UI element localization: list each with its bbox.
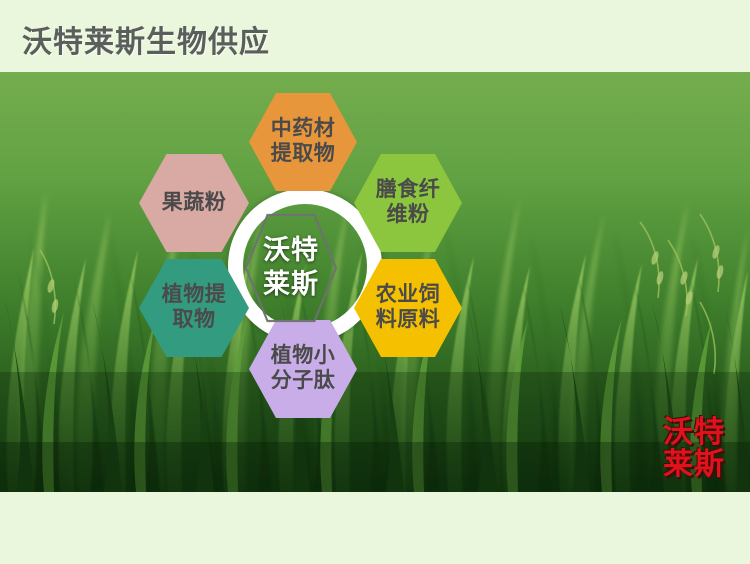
hex-node-herbal-extract[interactable]: 中药材提取物 bbox=[249, 93, 357, 191]
hex-label-line2: 维粉 bbox=[387, 203, 430, 226]
center-label-line2: 莱斯 bbox=[263, 269, 319, 299]
hex-label-dietary-fiber-powder: 膳食纤维粉 bbox=[354, 178, 462, 228]
banner-photo: 中药材提取物 膳食纤维粉 农业饲料原料 植物小分子肽 植物提取物 果蔬粉 bbox=[0, 72, 750, 492]
header-bar: 沃特莱斯生物供应 bbox=[0, 0, 750, 72]
page-root: 沃特莱斯生物供应 bbox=[0, 0, 750, 564]
hex-label-line1: 植物小 bbox=[271, 344, 336, 367]
hex-label-line1: 中药材 bbox=[271, 117, 336, 140]
hex-label-line1: 农业饲 bbox=[376, 283, 441, 306]
footer-bar bbox=[0, 492, 750, 564]
center-brand-label: 沃特莱斯 bbox=[263, 234, 319, 302]
hex-label-line2: 料原料 bbox=[376, 308, 441, 331]
hex-node-plant-peptide[interactable]: 植物小分子肽 bbox=[249, 320, 357, 418]
hex-label-line2: 分子肽 bbox=[271, 369, 336, 392]
brand-watermark: 沃特莱斯 bbox=[663, 417, 725, 482]
hex-label-line1: 植物提 bbox=[162, 283, 227, 306]
hex-label-herbal-extract: 中药材提取物 bbox=[249, 117, 357, 167]
hex-label-line2: 取物 bbox=[173, 308, 216, 331]
watermark-line1: 沃特 bbox=[663, 416, 725, 449]
watermark-line2: 莱斯 bbox=[663, 448, 725, 481]
hex-label-line2: 提取物 bbox=[271, 142, 336, 165]
hex-node-center-brand[interactable]: 沃特莱斯 bbox=[244, 213, 338, 323]
hex-label-plant-peptide: 植物小分子肽 bbox=[249, 344, 357, 394]
hex-label-fruit-vegetable-powder: 果蔬粉 bbox=[139, 191, 249, 216]
center-label-line1: 沃特 bbox=[263, 235, 319, 265]
hex-label-agricultural-feed-material: 农业饲料原料 bbox=[354, 283, 462, 333]
hex-label-plant-extract: 植物提取物 bbox=[139, 283, 249, 333]
page-title: 沃特莱斯生物供应 bbox=[22, 17, 270, 61]
hexagon-diagram: 中药材提取物 膳食纤维粉 农业饲料原料 植物小分子肽 植物提取物 果蔬粉 bbox=[0, 72, 750, 492]
hex-label-line1: 膳食纤 bbox=[376, 178, 441, 201]
